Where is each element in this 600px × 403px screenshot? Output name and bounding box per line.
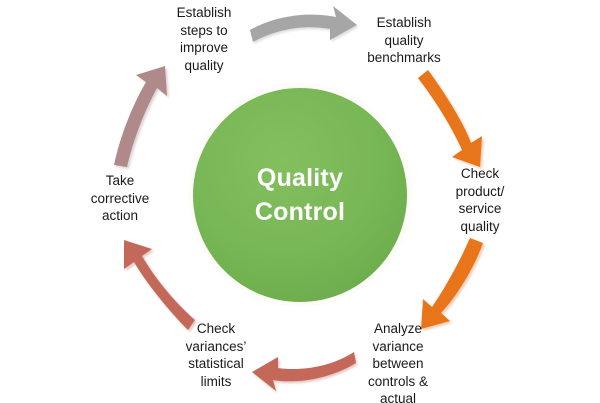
arrow-analyze-variance-to-check-variances[interactable]	[252, 352, 358, 393]
quality-control-hub-circle[interactable]	[193, 88, 407, 302]
arrow-top-establish-steps-to-benchmarks[interactable]	[250, 6, 359, 44]
step-label-establish-steps-to-improve-quality[interactable]: Establish steps to improve quality	[160, 4, 248, 74]
arrow-check-product-to-analyze-variance[interactable]	[421, 238, 485, 331]
step-label-establish-quality-benchmarks[interactable]: Establish quality benchmarks	[352, 14, 456, 67]
arrow-check-variances-to-take-corrective-action[interactable]	[124, 240, 197, 332]
step-label-check-product-service-quality[interactable]: Check product/ service quality	[440, 165, 520, 235]
arrow-take-corrective-action-to-establish-steps[interactable]	[114, 66, 169, 169]
arrow-benchmarks-to-check-product[interactable]	[418, 70, 484, 169]
step-label-check-variances-statistical-limits[interactable]: Check variances’ statistical limits	[172, 320, 260, 390]
step-label-analyze-variance-between-controls-and-actual[interactable]: Analyze variance between controls & actu…	[352, 320, 444, 403]
diagram-canvas: Quality Control Establish steps to impro…	[0, 0, 600, 403]
step-label-take-corrective-action[interactable]: Take corrective action	[78, 172, 162, 225]
